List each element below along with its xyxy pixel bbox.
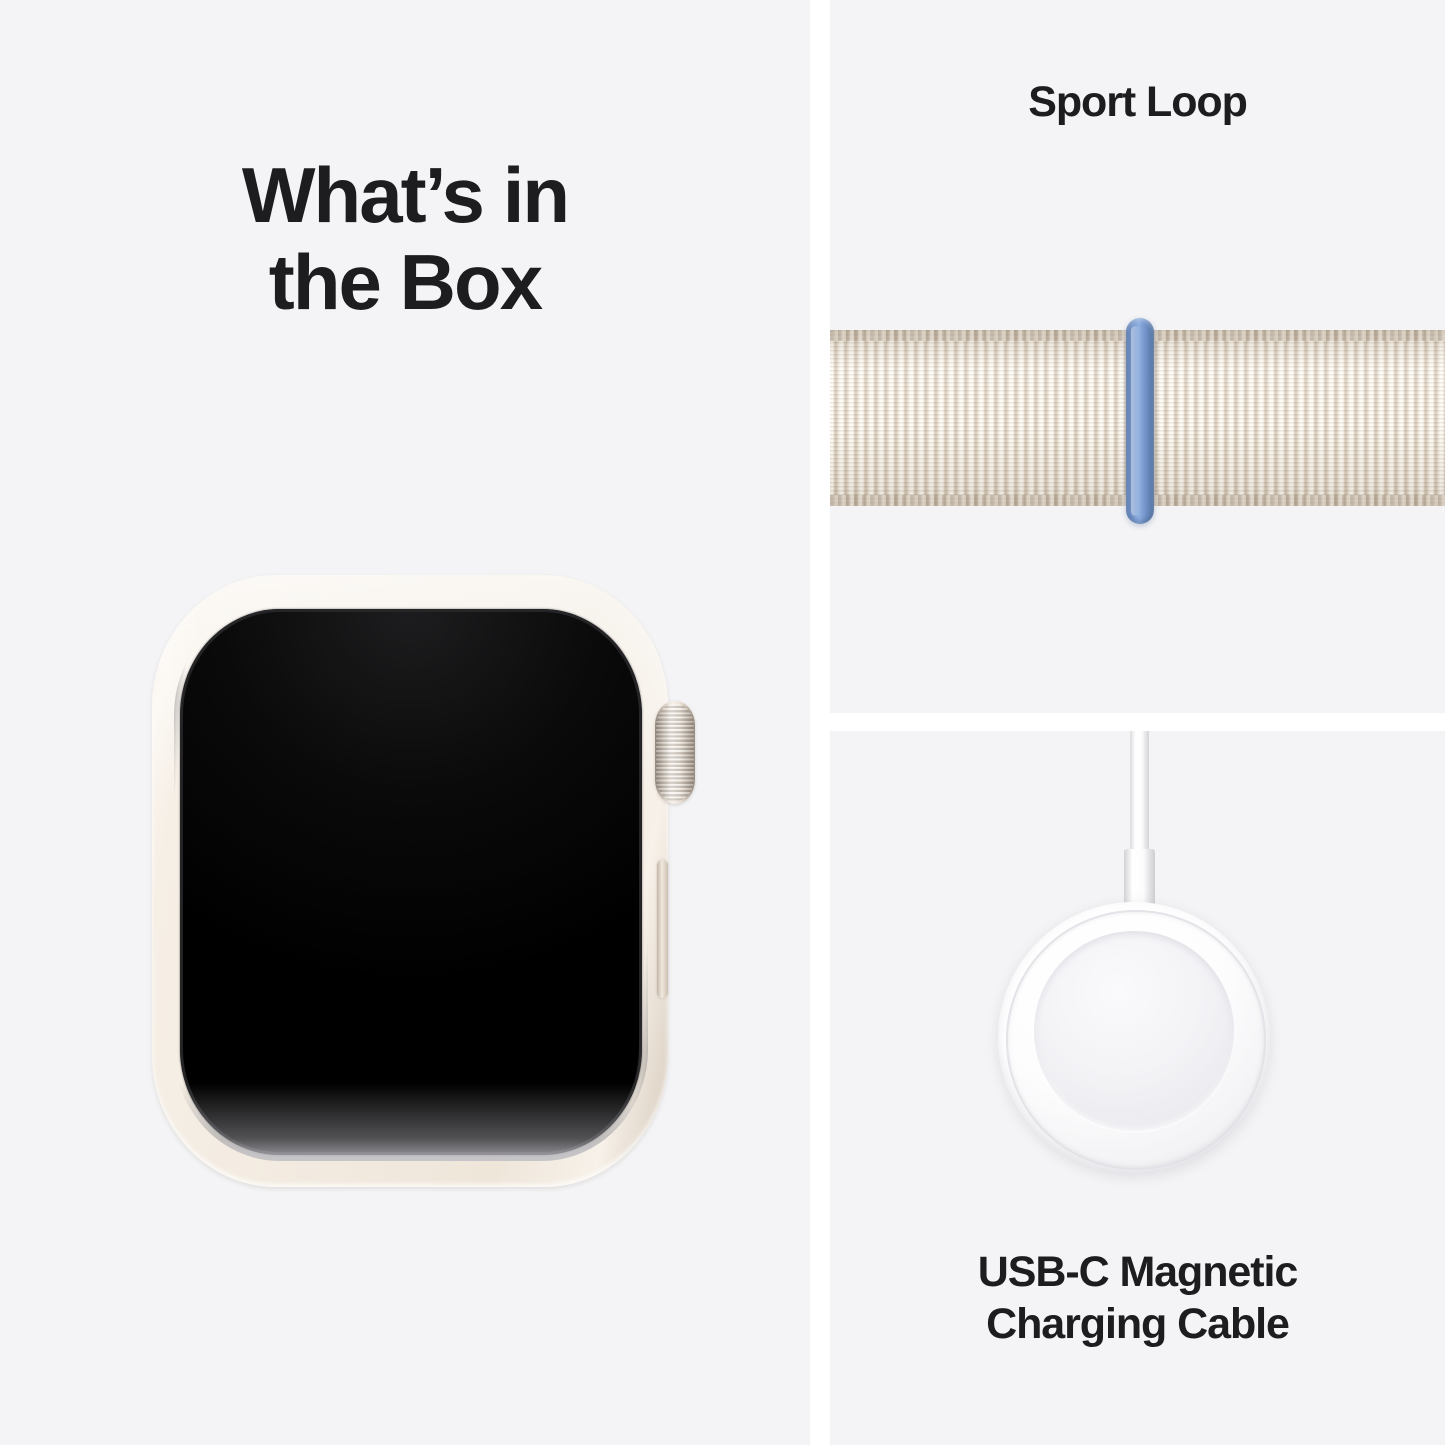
page-title-line-1: What’s in bbox=[242, 151, 568, 239]
charging-cable-cord bbox=[1130, 731, 1149, 851]
watch-display-screen bbox=[180, 609, 642, 1155]
charging-cable-title-line-2: Charging Cable bbox=[986, 1300, 1289, 1348]
band-keeper-loop bbox=[1126, 318, 1154, 524]
panel-usb-c-magnetic-charging-cable: USB-C MagneticCharging Cable bbox=[830, 731, 1445, 1445]
magnetic-charger-puck-face bbox=[1034, 931, 1234, 1131]
watch-side-button bbox=[657, 860, 668, 998]
page-title: What’s inthe Box bbox=[105, 152, 705, 327]
charging-cable-title: USB-C MagneticCharging Cable bbox=[830, 1247, 1445, 1350]
panel-whats-in-the-box: What’s inthe Box bbox=[0, 0, 810, 1445]
whats-in-the-box-gallery: What’s inthe Box Sport Loop bbox=[0, 0, 1445, 1445]
apple-watch-product-image bbox=[152, 575, 668, 1187]
panel-sport-loop: Sport Loop bbox=[830, 0, 1445, 713]
charging-cable-title-line-1: USB-C Magnetic bbox=[978, 1248, 1297, 1296]
digital-crown-shading bbox=[655, 701, 695, 804]
digital-crown bbox=[655, 701, 695, 804]
sport-loop-title: Sport Loop bbox=[830, 78, 1445, 127]
page-title-line-2: the Box bbox=[269, 238, 541, 326]
